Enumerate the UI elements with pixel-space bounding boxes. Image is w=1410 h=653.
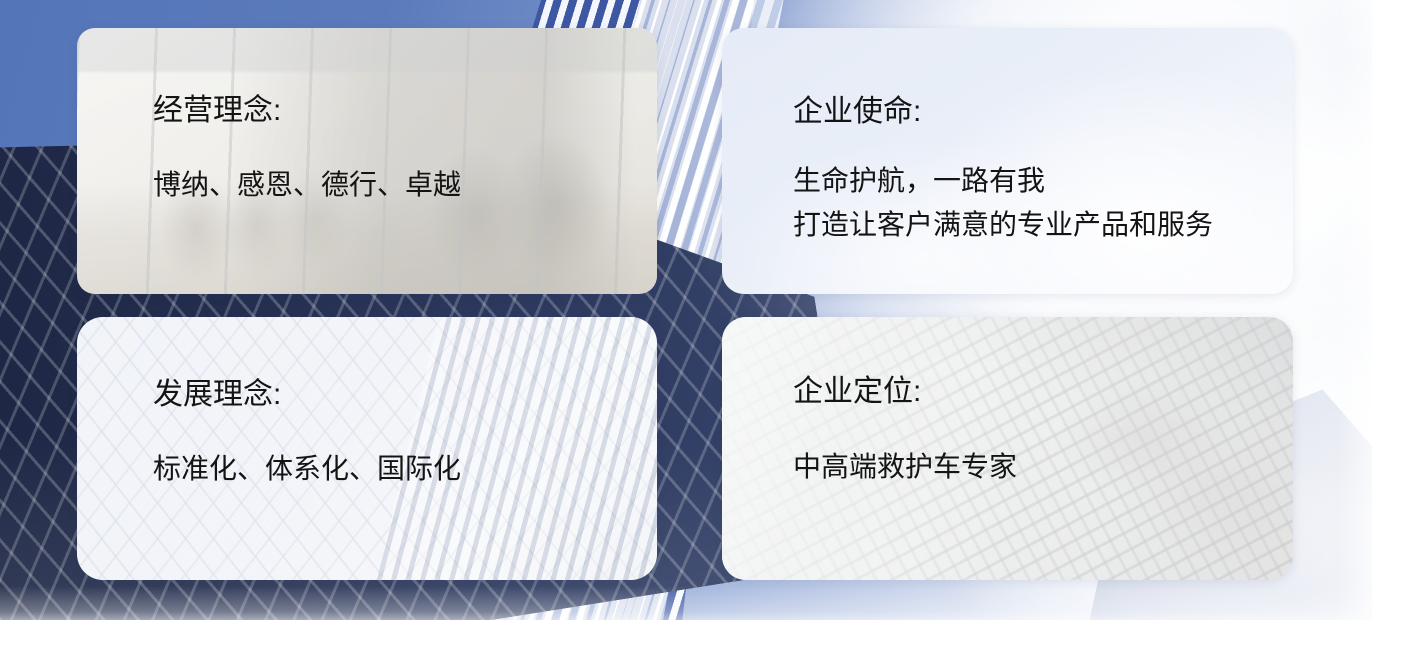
card-corporate-mission[interactable] bbox=[722, 28, 1293, 294]
image-edge-fade-right bbox=[1338, 0, 1410, 653]
photo-fade-mask bbox=[722, 317, 1293, 580]
card-corporate-positioning[interactable] bbox=[722, 317, 1293, 580]
meeting-room-photo bbox=[77, 28, 657, 294]
slide-canvas: 经营理念: 博纳、感恩、德行、卓越 企业使命: 生命护航，一路有我 打造让客户满… bbox=[0, 0, 1410, 653]
image-edge-fade-bottom bbox=[0, 586, 1410, 653]
card-background-wash bbox=[722, 28, 1293, 294]
card-business-philosophy[interactable] bbox=[77, 28, 657, 294]
card-development-philosophy[interactable] bbox=[77, 317, 657, 580]
